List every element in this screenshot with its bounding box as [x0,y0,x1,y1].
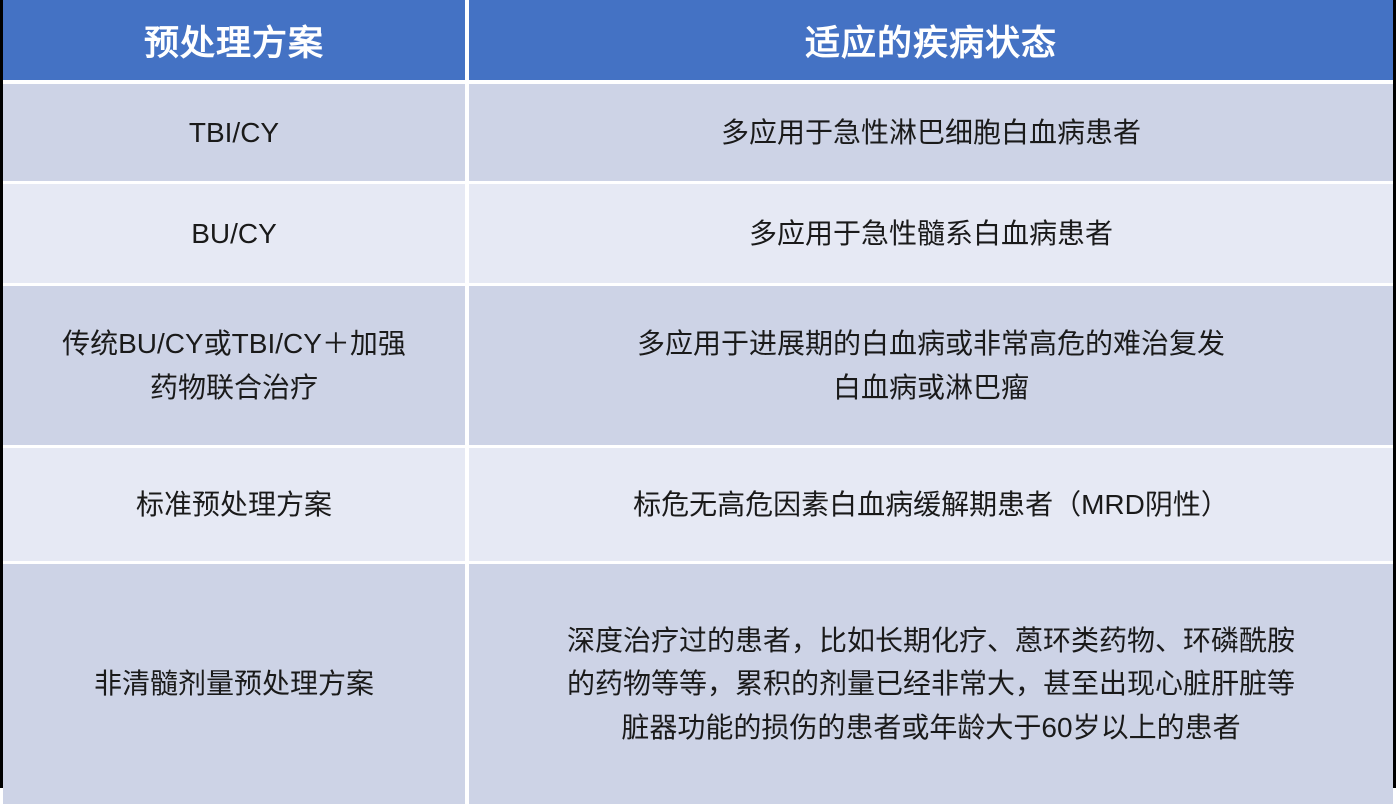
cell-text-line: 白血病或淋巴瘤 [485,366,1377,409]
cell-text-line: 标准预处理方案 [19,483,449,526]
table-row: TBI/CY 多应用于急性淋巴细胞白血病患者 [3,84,1393,184]
table-row: 传统BU/CY或TBI/CY＋加强 药物联合治疗 多应用于进展期的白血病或非常高… [3,286,1393,448]
column-header-regimen: 预处理方案 [3,0,469,84]
table-row: 标准预处理方案 标危无高危因素白血病缓解期患者（MRD阴性） [3,448,1393,564]
cell-indication: 标危无高危因素白血病缓解期患者（MRD阴性） [469,448,1393,564]
cell-regimen: 传统BU/CY或TBI/CY＋加强 药物联合治疗 [3,286,469,448]
column-header-indication: 适应的疾病状态 [469,0,1393,84]
table-row: BU/CY 多应用于急性髓系白血病患者 [3,184,1393,286]
table-frame: 预处理方案 适应的疾病状态 TBI/CY 多应用于急性淋巴细胞白血病患者 BU/… [0,0,1396,788]
cell-regimen: 非清髓剂量预处理方案 [3,564,469,804]
cell-indication: 多应用于进展期的白血病或非常高危的难治复发 白血病或淋巴瘤 [469,286,1393,448]
cell-indication: 深度治疗过的患者，比如长期化疗、蒽环类药物、环磷酰胺 的药物等等，累积的剂量已经… [469,564,1393,804]
cell-regimen: TBI/CY [3,84,469,184]
header-row: 预处理方案 适应的疾病状态 [3,0,1393,84]
cell-text-line: 标危无高危因素白血病缓解期患者（MRD阴性） [485,483,1377,526]
table-body: TBI/CY 多应用于急性淋巴细胞白血病患者 BU/CY 多应用于急性髓系白血病… [3,84,1393,804]
cell-indication: 多应用于急性淋巴细胞白血病患者 [469,84,1393,184]
table-row: 非清髓剂量预处理方案 深度治疗过的患者，比如长期化疗、蒽环类药物、环磷酰胺 的药… [3,564,1393,804]
cell-text-line: 脏器功能的损伤的患者或年龄大于60岁以上的患者 [485,706,1377,749]
table-header: 预处理方案 适应的疾病状态 [3,0,1393,84]
cell-text-line: TBI/CY [19,111,449,154]
preconditioning-regimen-table: 预处理方案 适应的疾病状态 TBI/CY 多应用于急性淋巴细胞白血病患者 BU/… [3,0,1393,804]
cell-regimen: 标准预处理方案 [3,448,469,564]
cell-indication: 多应用于急性髓系白血病患者 [469,184,1393,286]
cell-text-line: 多应用于急性髓系白血病患者 [485,212,1377,255]
cell-text-line: BU/CY [19,212,449,255]
cell-text-line: 深度治疗过的患者，比如长期化疗、蒽环类药物、环磷酰胺 [485,619,1377,662]
cell-text-line: 多应用于进展期的白血病或非常高危的难治复发 [485,322,1377,365]
cell-text-line: 多应用于急性淋巴细胞白血病患者 [485,111,1377,154]
cell-text-line: 传统BU/CY或TBI/CY＋加强 [19,322,449,365]
cell-text-line: 药物联合治疗 [19,366,449,409]
cell-text-line: 非清髓剂量预处理方案 [19,662,449,705]
cell-text-line: 的药物等等，累积的剂量已经非常大，甚至出现心脏肝脏等 [485,662,1377,705]
cell-regimen: BU/CY [3,184,469,286]
